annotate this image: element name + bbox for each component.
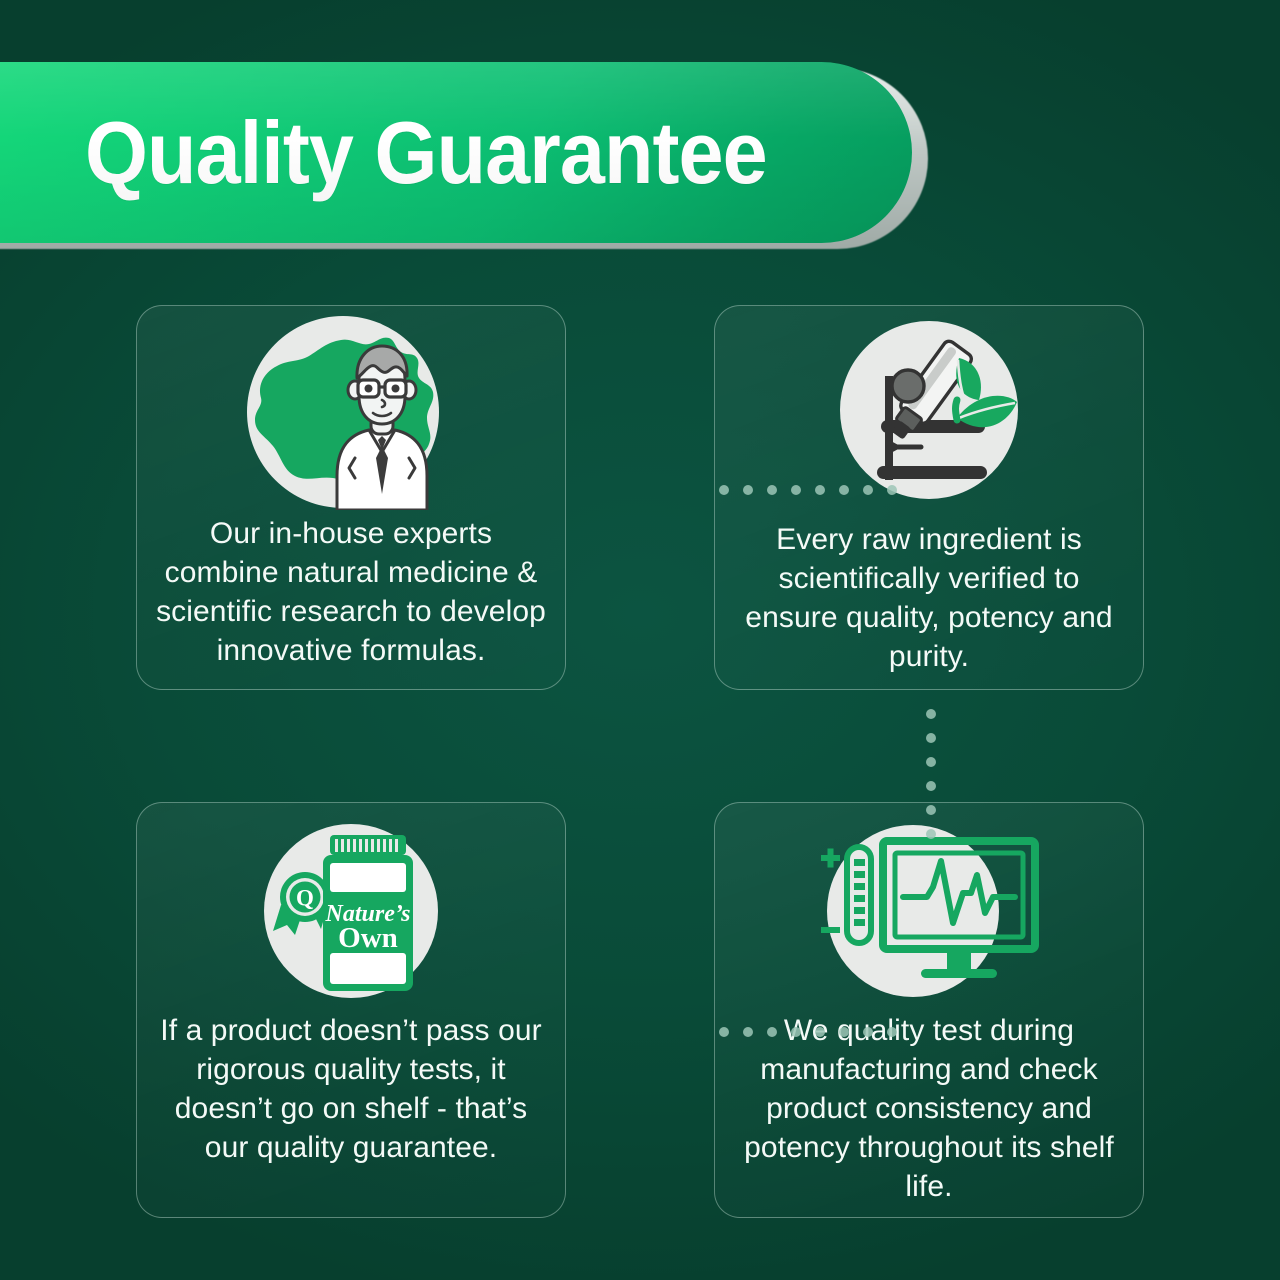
banner-pill: Quality Guarantee xyxy=(0,62,912,243)
connector-dot xyxy=(926,805,936,815)
thermometer-minus-icon xyxy=(821,927,840,933)
bottle-brand-line2: Own xyxy=(338,922,398,954)
thermometer-plus-icon xyxy=(821,849,840,868)
connector-dot xyxy=(839,1027,849,1037)
connector-dot xyxy=(743,485,753,495)
connector-dot xyxy=(743,1027,753,1037)
card-quality-guarantee-shelf[interactable]: Q Nature’s Own xyxy=(136,802,566,1218)
header-banner: Quality Guarantee xyxy=(0,62,960,243)
connector-dot xyxy=(815,485,825,495)
connector-dot xyxy=(863,485,873,495)
badge-letter: Q xyxy=(296,886,314,911)
connector-dot xyxy=(767,485,777,495)
connector-dot xyxy=(926,781,936,791)
connector-dot xyxy=(863,1027,873,1037)
connector-dot xyxy=(839,485,849,495)
connector-dot xyxy=(815,1027,825,1037)
connector-dot xyxy=(926,757,936,767)
card-in-house-experts[interactable]: Our in-house experts combine natural med… xyxy=(136,305,566,690)
feature-card-grid: Our in-house experts combine natural med… xyxy=(136,305,1144,1218)
connector-top-horizontal xyxy=(719,485,897,495)
connector-dot xyxy=(767,1027,777,1037)
connector-right-vertical xyxy=(926,709,936,839)
connector-dot xyxy=(926,733,936,743)
connector-dot xyxy=(719,485,729,495)
connector-dot xyxy=(791,1027,801,1037)
card-text: If a product doesn’t pass our rigorous q… xyxy=(137,1011,565,1167)
supplement-bottle-quality-badge-icon: Q Nature’s Own xyxy=(231,819,471,1005)
connector-dot xyxy=(926,709,936,719)
card-manufacturing-testing[interactable]: We quality test during manufacturing and… xyxy=(714,802,1144,1218)
card-text: Every raw ingredient is scientifically v… xyxy=(715,520,1143,676)
monitor-ekg-thermometer-icon xyxy=(809,819,1049,1005)
card-raw-ingredient-verification[interactable]: Every raw ingredient is scientifically v… xyxy=(714,305,1144,690)
connector-dot xyxy=(791,485,801,495)
connector-bottom-horizontal xyxy=(719,1027,897,1037)
card-text: Our in-house experts combine natural med… xyxy=(137,514,565,670)
page-title: Quality Guarantee xyxy=(85,109,767,197)
australia-map-scientist-icon xyxy=(231,314,471,510)
connector-dot xyxy=(887,485,897,495)
microscope-leaf-icon xyxy=(809,314,1049,510)
card-text: We quality test during manufacturing and… xyxy=(715,1011,1143,1206)
connector-dot xyxy=(926,829,936,839)
connector-dot xyxy=(719,1027,729,1037)
connector-dot xyxy=(887,1027,897,1037)
